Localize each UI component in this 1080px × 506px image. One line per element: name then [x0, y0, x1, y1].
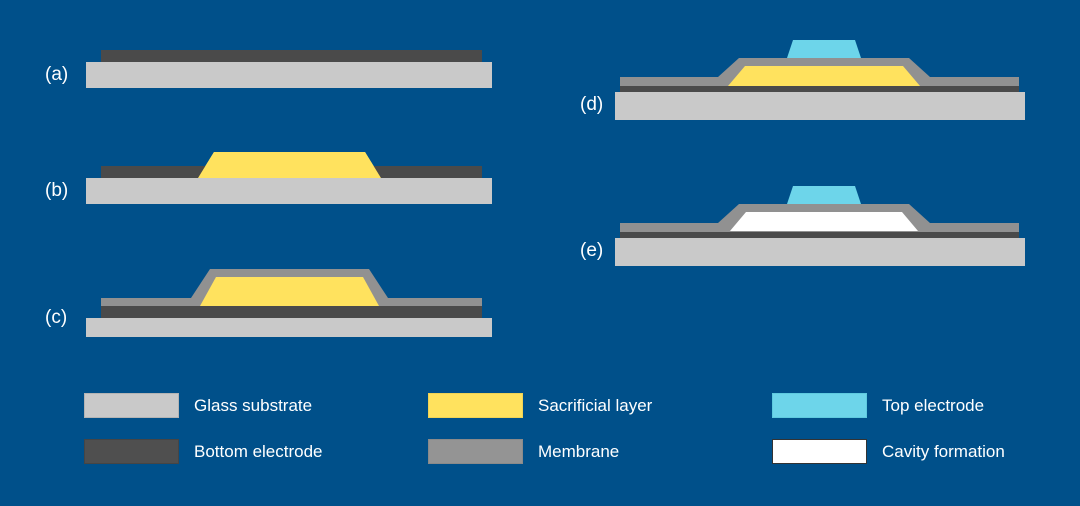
sacrificial-layer-shape — [728, 66, 920, 86]
panel-label-b: (b) — [45, 180, 68, 202]
glass-substrate-layer — [86, 62, 492, 88]
legend-item-top-electrode: Top electrode — [772, 392, 1080, 420]
glass-substrate-layer — [86, 318, 492, 337]
glass-substrate-layer — [86, 178, 492, 204]
panel-label-a: (a) — [45, 64, 68, 86]
legend-label-top-electrode: Top electrode — [882, 392, 984, 420]
legend-item-cavity-formation: Cavity formation — [772, 438, 1080, 466]
legend-swatch-bottom-electrode — [84, 439, 179, 464]
legend-label-sacrificial-layer: Sacrificial layer — [538, 392, 652, 420]
legend-swatch-sacrificial-layer — [428, 393, 523, 418]
panel-c-diagram — [80, 262, 500, 337]
bottom-electrode-layer — [101, 50, 482, 62]
legend-item-membrane: Membrane — [428, 438, 758, 466]
legend-column-1: Glass substrate Bottom electrode — [84, 392, 414, 474]
sacrificial-layer-shape-front — [198, 152, 381, 178]
legend-item-glass-substrate: Glass substrate — [84, 392, 414, 420]
legend-column-3: Top electrode Cavity formation — [772, 392, 1080, 474]
legend-swatch-top-electrode — [772, 393, 867, 418]
bottom-electrode-layer — [101, 306, 482, 318]
sacrificial-layer-shape — [200, 277, 379, 306]
panel-b-diagram — [80, 145, 500, 210]
panel-a-diagram — [80, 44, 500, 94]
figure-canvas: (a) (b) (c) (d) — [0, 0, 1080, 506]
panel-label-d: (d) — [580, 94, 603, 116]
panel-label-e: (e) — [580, 240, 603, 262]
legend-label-membrane: Membrane — [538, 438, 619, 466]
panel-e-diagram — [615, 178, 1035, 270]
legend-label-cavity-formation: Cavity formation — [882, 438, 1005, 466]
legend-item-bottom-electrode: Bottom electrode — [84, 438, 414, 466]
legend-column-2: Sacrificial layer Membrane — [428, 392, 758, 474]
panel-label-c: (c) — [45, 307, 67, 329]
cavity-formation-layer — [730, 212, 918, 231]
top-electrode-layer — [787, 40, 861, 58]
legend-label-bottom-electrode: Bottom electrode — [194, 438, 323, 466]
panel-d-diagram — [615, 32, 1035, 124]
legend-label-glass-substrate: Glass substrate — [194, 392, 312, 420]
legend-swatch-membrane — [428, 439, 523, 464]
legend-swatch-cavity-formation — [772, 439, 867, 464]
legend-swatch-glass-substrate — [84, 393, 179, 418]
glass-substrate-layer — [615, 92, 1025, 120]
glass-substrate-layer — [615, 238, 1025, 266]
legend-item-sacrificial-layer: Sacrificial layer — [428, 392, 758, 420]
top-electrode-layer — [787, 186, 861, 204]
legend: Glass substrate Bottom electrode Sacrifi… — [84, 392, 1044, 474]
